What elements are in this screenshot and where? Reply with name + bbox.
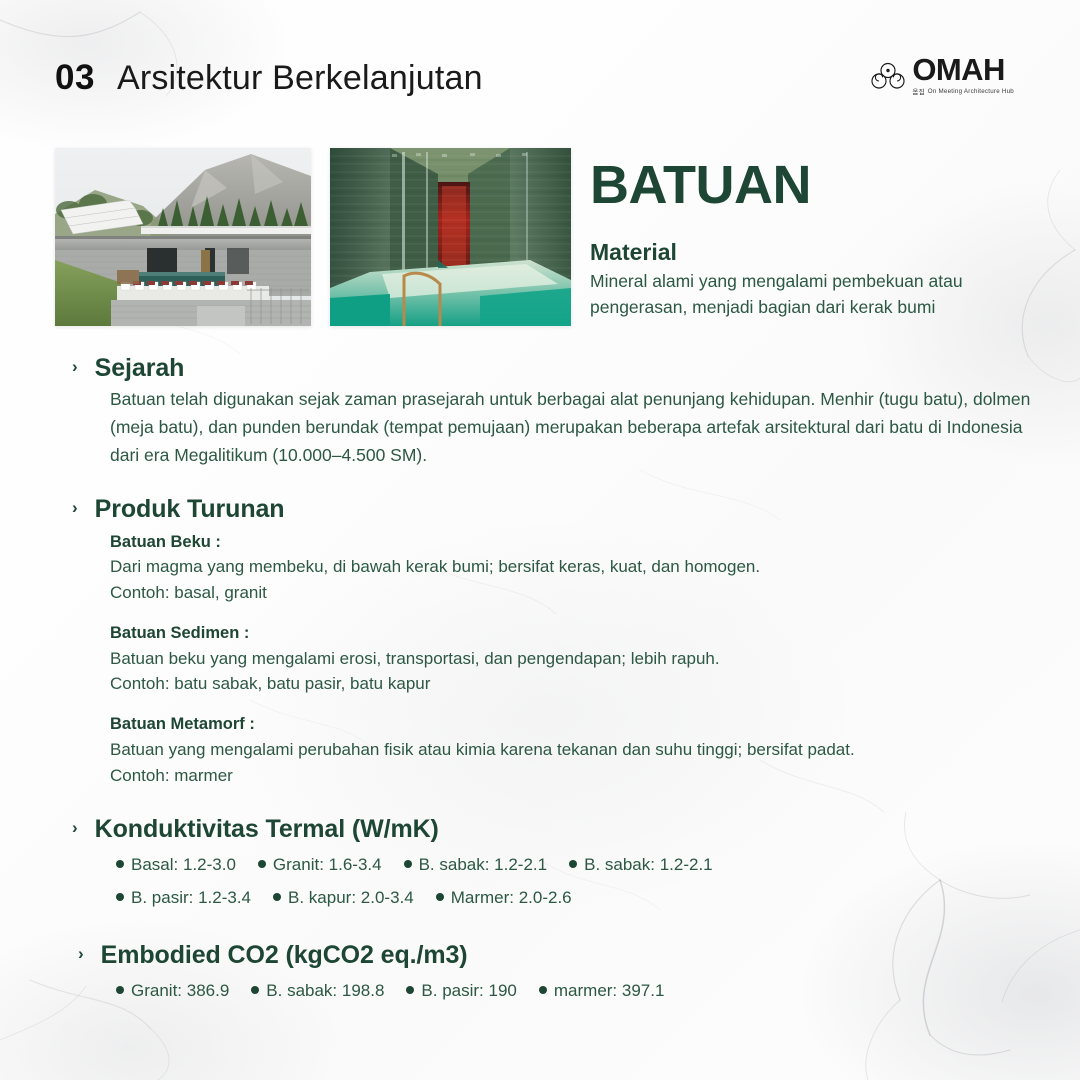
hero-title: BATUAN <box>590 158 1020 213</box>
bullet-dot-icon <box>406 986 414 994</box>
data-chip: Marmer: 2.0-2.6 <box>436 881 572 914</box>
omah-logo: OMAH 옴집 On Meeting Architecture Hub <box>871 55 1014 96</box>
hero-block: BATUAN Material Mineral alami yang menga… <box>590 158 1020 320</box>
rock-type-label: Batuan Metamorf : <box>110 712 1032 737</box>
bullet-dot-icon <box>116 893 124 901</box>
data-chip: Basal: 1.2-3.0 <box>116 848 236 881</box>
section-number: 03 <box>55 58 95 98</box>
photo-interior <box>330 148 571 326</box>
bullet-dot-icon <box>116 860 124 868</box>
section-sejarah-header: › Sejarah <box>72 353 1032 384</box>
rock-type-example: Contoh: batu sabak, batu pasir, batu kap… <box>110 671 1032 697</box>
chevron-right-icon: › <box>72 353 78 380</box>
data-chip: Granit: 1.6-3.4 <box>258 848 382 881</box>
rock-type-description: Dari magma yang membeku, di bawah kerak … <box>110 554 1032 580</box>
data-chip-label: B. sabak: 198.8 <box>266 974 384 1007</box>
section-konduktivitas-title: Konduktivitas Termal (W/mK) <box>95 814 439 845</box>
section-konduktivitas-termal: › Konduktivitas Termal (W/mK) Basal: 1.2… <box>72 814 1032 914</box>
bullet-dot-icon <box>436 893 444 901</box>
photo-exterior <box>55 148 311 326</box>
page-header: 03 Arsitektur Berkelanjutan <box>55 58 483 98</box>
data-chip: B. sabak: 198.8 <box>251 974 384 1007</box>
bullet-dot-icon <box>116 986 124 994</box>
rock-type-example: Contoh: marmer <box>110 763 1032 789</box>
section-sejarah-paragraph: Batuan telah digunakan sejak zaman prase… <box>110 385 1032 470</box>
data-chip: B. pasir: 190 <box>406 974 516 1007</box>
konduktivitas-row-2: B. pasir: 1.2-3.4 B. kapur: 2.0-3.4 Marm… <box>116 881 1032 914</box>
section-co2-title: Embodied CO2 (kgCO2 eq./m3) <box>101 940 468 971</box>
co2-row-1: Granit: 386.9 B. sabak: 198.8 B. pasir: … <box>116 974 1032 1007</box>
section-konduktivitas-header: › Konduktivitas Termal (W/mK) <box>72 814 1032 845</box>
rock-type-description: Batuan beku yang mengalami erosi, transp… <box>110 646 1032 672</box>
data-chip-label: Basal: 1.2-3.0 <box>131 848 236 881</box>
bullet-dot-icon <box>258 860 266 868</box>
rock-type-group: Batuan Sedimen : Batuan beku yang mengal… <box>110 621 1032 697</box>
bullet-dot-icon <box>251 986 259 994</box>
section-sejarah-title: Sejarah <box>95 353 185 384</box>
data-chip-label: B. kapur: 2.0-3.4 <box>288 881 414 914</box>
rock-type-label: Batuan Beku : <box>110 530 1032 555</box>
chevron-right-icon: › <box>72 814 78 841</box>
page-title: Arsitektur Berkelanjutan <box>117 59 483 98</box>
data-chip: B. sabak: 1.2-2.1 <box>404 848 548 881</box>
section-produk-header: › Produk Turunan <box>72 494 1032 525</box>
data-chip-label: B. pasir: 1.2-3.4 <box>131 881 251 914</box>
section-sejarah: › Sejarah Batuan telah digunakan sejak z… <box>72 353 1032 470</box>
bullet-dot-icon <box>273 893 281 901</box>
logo-han-mark: 옴집 <box>912 86 924 96</box>
rock-type-group: Batuan Beku : Dari magma yang membeku, d… <box>110 530 1032 606</box>
data-chip: B. sabak: 1.2-2.1 <box>569 848 713 881</box>
logo-wordmark: OMAH <box>912 55 1004 84</box>
data-chip-label: Granit: 386.9 <box>131 974 229 1007</box>
data-chip: Granit: 386.9 <box>116 974 229 1007</box>
bullet-dot-icon <box>404 860 412 868</box>
chevron-right-icon: › <box>78 940 84 967</box>
data-chip-label: marmer: 397.1 <box>554 974 665 1007</box>
rock-type-example: Contoh: basal, granit <box>110 580 1032 606</box>
rock-type-group: Batuan Metamorf : Batuan yang mengalami … <box>110 712 1032 788</box>
hero-description: Mineral alami yang mengalami pembekuan a… <box>590 269 1020 321</box>
omah-triple-spiral-icon <box>871 61 905 91</box>
data-chip-label: B. sabak: 1.2-2.1 <box>419 848 548 881</box>
bullet-dot-icon <box>569 860 577 868</box>
section-produk-title: Produk Turunan <box>95 494 285 525</box>
data-chip-label: B. sabak: 1.2-2.1 <box>584 848 713 881</box>
section-co2-header: › Embodied CO2 (kgCO2 eq./m3) <box>78 940 1032 971</box>
data-chip-label: B. pasir: 190 <box>421 974 516 1007</box>
data-chip: B. kapur: 2.0-3.4 <box>273 881 414 914</box>
logo-tagline: On Meeting Architecture Hub <box>928 88 1014 95</box>
rock-type-description: Batuan yang mengalami perubahan fisik at… <box>110 737 1032 763</box>
rock-type-label: Batuan Sedimen : <box>110 621 1032 646</box>
konduktivitas-row-1: Basal: 1.2-3.0 Granit: 1.6-3.4 B. sabak:… <box>116 848 1032 881</box>
section-embodied-co2: › Embodied CO2 (kgCO2 eq./m3) Granit: 38… <box>72 940 1032 1007</box>
data-chip: B. pasir: 1.2-3.4 <box>116 881 251 914</box>
data-chip-label: Granit: 1.6-3.4 <box>273 848 382 881</box>
bullet-dot-icon <box>539 986 547 994</box>
data-chip: marmer: 397.1 <box>539 974 665 1007</box>
chevron-right-icon: › <box>72 494 78 521</box>
data-chip-label: Marmer: 2.0-2.6 <box>451 881 572 914</box>
hero-subtitle: Material <box>590 239 1020 267</box>
section-produk-turunan: › Produk Turunan Batuan Beku : Dari magm… <box>72 494 1032 789</box>
